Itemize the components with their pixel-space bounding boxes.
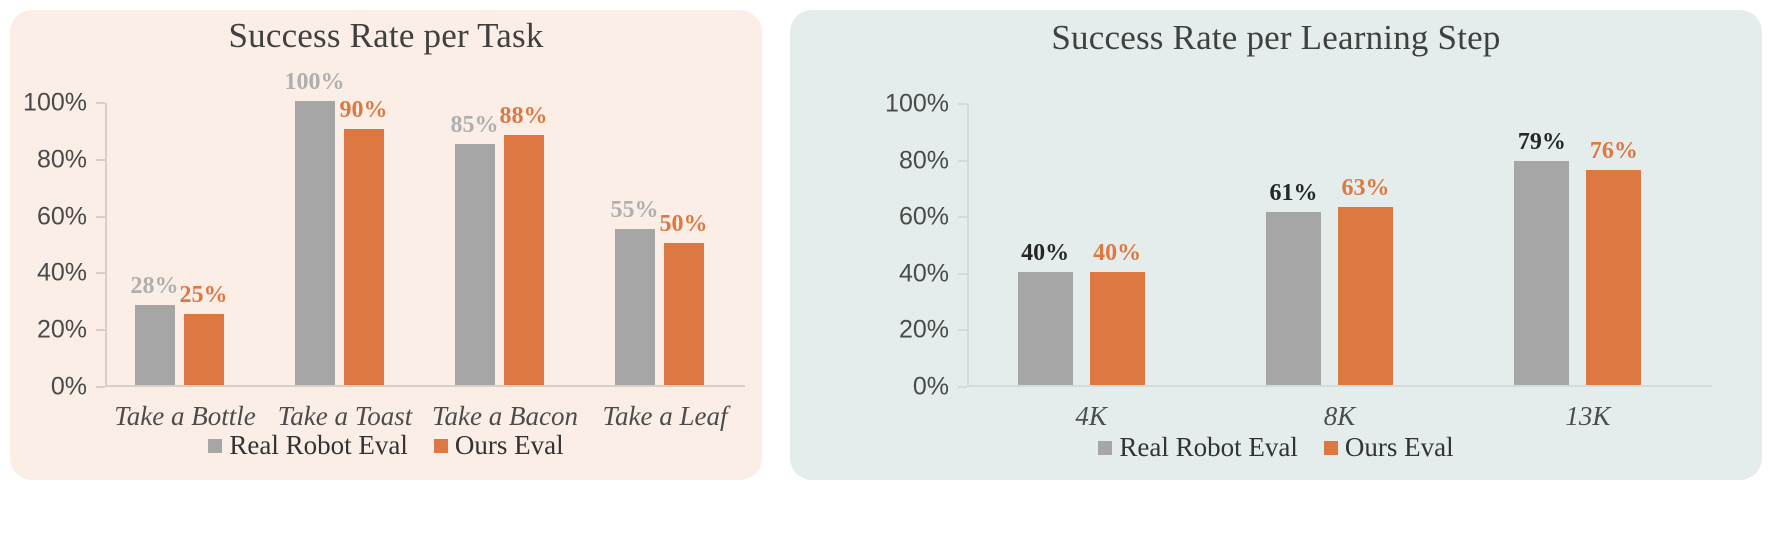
- legend-swatch-real-robot-eval: [208, 439, 222, 453]
- chart-panel-success-rate-per-learning-step: Success Rate per Learning Step 0%20%40%6…: [790, 10, 1762, 480]
- x-axis-category-label: 13K: [1565, 401, 1610, 432]
- legend-label-real-robot-eval: Real Robot Eval: [229, 430, 407, 461]
- y-axis-tick: [958, 386, 967, 388]
- bar-value-label: 61%: [1270, 180, 1318, 207]
- y-axis-tick: [96, 272, 105, 274]
- legend-item-real-robot-eval[interactable]: Real Robot Eval: [208, 430, 407, 461]
- bar-value-label: 28%: [131, 273, 179, 300]
- bar-ours-eval[interactable]: 40%: [1090, 272, 1145, 385]
- y-axis-tick-label: 80%: [37, 145, 87, 174]
- bar-real-robot-eval[interactable]: 85%: [455, 144, 495, 385]
- y-axis-line-right: [967, 104, 969, 387]
- legend-item-real-robot-eval[interactable]: Real Robot Eval: [1098, 432, 1297, 463]
- y-axis-tick: [96, 329, 105, 331]
- bar-value-label: 90%: [340, 97, 388, 124]
- y-axis-tick-label: 20%: [37, 316, 87, 345]
- x-axis-category-label: Take a Toast: [278, 401, 413, 432]
- bar-real-robot-eval[interactable]: 40%: [1018, 272, 1073, 385]
- y-axis-tick: [96, 102, 105, 104]
- bar-value-label: 76%: [1590, 138, 1638, 165]
- y-axis-tick-label: 60%: [899, 203, 949, 232]
- bar-ours-eval[interactable]: 90%: [344, 129, 384, 385]
- bar-value-label: 85%: [451, 112, 499, 139]
- bar-value-label: 55%: [611, 197, 659, 224]
- bar-ours-eval[interactable]: 25%: [184, 314, 224, 385]
- y-axis-tick-label: 100%: [885, 90, 949, 119]
- y-axis-line-left: [105, 103, 107, 387]
- bar-real-robot-eval[interactable]: 28%: [135, 305, 175, 385]
- legend-label-real-robot-eval: Real Robot Eval: [1119, 432, 1297, 463]
- bar-ours-eval[interactable]: 88%: [504, 135, 544, 385]
- legend-item-ours-eval[interactable]: Ours Eval: [434, 430, 564, 461]
- bar-value-label: 79%: [1518, 129, 1566, 156]
- bar-value-label: 88%: [500, 103, 548, 130]
- y-axis-tick: [958, 329, 967, 331]
- x-axis-category-label: 4K: [1075, 401, 1107, 432]
- bar-real-robot-eval[interactable]: 61%: [1266, 212, 1321, 385]
- y-axis-tick-label: 0%: [913, 373, 949, 402]
- bar-ours-eval[interactable]: 50%: [664, 243, 704, 385]
- y-axis-tick: [96, 386, 105, 388]
- bar-value-label: 63%: [1342, 175, 1390, 202]
- legend-swatch-ours-eval: [434, 439, 448, 453]
- y-axis-tick-label: 60%: [37, 202, 87, 231]
- chart-title-right: Success Rate per Learning Step: [790, 18, 1762, 58]
- y-axis-tick-label: 40%: [899, 259, 949, 288]
- y-axis-tick-label: 0%: [51, 373, 87, 402]
- x-axis-category-label: 8K: [1324, 401, 1356, 432]
- x-axis-category-label: Take a Bacon: [432, 401, 578, 432]
- plot-area-left: 0%20%40%60%80%100%Take a Bottle28%25%Tak…: [105, 103, 745, 387]
- y-axis-tick: [958, 216, 967, 218]
- y-axis-tick-label: 20%: [899, 316, 949, 345]
- figure-container: Success Rate per Task 0%20%40%60%80%100%…: [0, 0, 1774, 550]
- bar-real-robot-eval[interactable]: 55%: [615, 229, 655, 385]
- chart-title-left: Success Rate per Task: [10, 16, 762, 56]
- legend-right: Real Robot Eval Ours Eval: [790, 432, 1762, 463]
- y-axis-tick: [958, 103, 967, 105]
- bar-value-label: 40%: [1021, 240, 1069, 267]
- y-axis-tick: [958, 273, 967, 275]
- bar-real-robot-eval[interactable]: 100%: [295, 101, 335, 385]
- bar-value-label: 50%: [660, 211, 708, 238]
- legend-swatch-real-robot-eval: [1098, 441, 1112, 455]
- x-axis-category-label: Take a Leaf: [602, 401, 727, 432]
- y-axis-tick-label: 100%: [23, 89, 87, 118]
- legend-item-ours-eval[interactable]: Ours Eval: [1324, 432, 1454, 463]
- x-axis-category-label: Take a Bottle: [114, 401, 256, 432]
- x-axis-baseline-left: [105, 385, 745, 387]
- legend-label-ours-eval: Ours Eval: [1345, 432, 1454, 463]
- bar-ours-eval[interactable]: 63%: [1338, 207, 1393, 385]
- y-axis-tick: [96, 216, 105, 218]
- y-axis-tick-label: 40%: [37, 259, 87, 288]
- y-axis-tick: [96, 159, 105, 161]
- bar-ours-eval[interactable]: 76%: [1586, 170, 1641, 385]
- legend-left: Real Robot Eval Ours Eval: [10, 430, 762, 461]
- plot-area-right: 0%20%40%60%80%100%4K40%40%8K61%63%13K79%…: [967, 104, 1712, 387]
- y-axis-tick-label: 80%: [899, 146, 949, 175]
- legend-label-ours-eval: Ours Eval: [455, 430, 564, 461]
- bar-value-label: 100%: [285, 69, 345, 96]
- y-axis-tick: [958, 160, 967, 162]
- bar-real-robot-eval[interactable]: 79%: [1514, 161, 1569, 385]
- x-axis-baseline-right: [967, 385, 1712, 387]
- chart-panel-success-rate-per-task: Success Rate per Task 0%20%40%60%80%100%…: [10, 10, 762, 480]
- bar-value-label: 25%: [180, 282, 228, 309]
- legend-swatch-ours-eval: [1324, 441, 1338, 455]
- bar-value-label: 40%: [1093, 240, 1141, 267]
